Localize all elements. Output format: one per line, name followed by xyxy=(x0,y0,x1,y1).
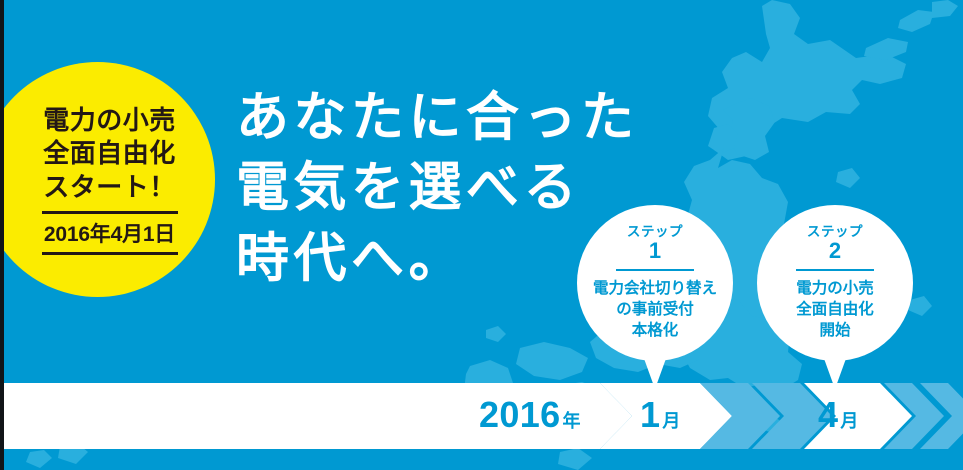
headline: あなたに合った 電気を選べる 時代へ。 xyxy=(236,83,639,294)
badge-line-2: 全面自由化 xyxy=(43,137,176,170)
step-1-number: 1 xyxy=(649,239,661,262)
timeline-month-1-unit: 月 xyxy=(662,407,680,433)
step-1-desc-line-3: 本格化 xyxy=(632,321,679,342)
headline-line-1: あなたに合った xyxy=(236,83,639,153)
timeline-month-1-value: 1 xyxy=(640,394,660,436)
step-2-desc-line-3: 開始 xyxy=(819,321,850,342)
step-bubble-2: ステップ 2 電力の小売 全面自由化 開始 xyxy=(757,205,913,361)
timeline-year-unit: 年 xyxy=(563,407,581,433)
step-bubble-1: ステップ 1 電力会社切り替え の事前受付 本格化 xyxy=(577,205,733,361)
step-2-desc-line-2: 全面自由化 xyxy=(796,300,874,321)
start-badge: 電力の小売 全面自由化 スタート！ 2016年4月1日 xyxy=(0,62,215,297)
badge-divider-bottom xyxy=(42,252,178,255)
badge-line-3: スタート！ xyxy=(43,171,176,204)
step-2-bubble-tail xyxy=(822,353,848,389)
timeline-month-4-value: 4 xyxy=(818,394,838,436)
step-2-desc-line-1: 電力の小売 xyxy=(796,279,874,300)
left-edge-stripe xyxy=(0,0,4,470)
headline-line-2: 電気を選べる xyxy=(236,153,639,223)
step-2-number: 2 xyxy=(829,239,841,262)
step-1-desc-line-2: の事前受付 xyxy=(616,300,694,321)
step-2-divider xyxy=(796,269,874,271)
timeline-month-1: 1 月 xyxy=(640,394,680,436)
timeline-month-4-unit: 月 xyxy=(840,407,858,433)
badge-divider-top xyxy=(42,211,178,214)
step-1-bubble-tail xyxy=(642,353,668,389)
timeline-month-4: 4 月 xyxy=(818,394,858,436)
start-badge-content: 電力の小売 全面自由化 スタート！ 2016年4月1日 xyxy=(0,104,215,255)
timeline-year-value: 2016 xyxy=(479,394,561,436)
badge-date: 2016年4月1日 xyxy=(44,218,175,248)
step-1-desc-line-1: 電力会社切り替え xyxy=(593,279,717,300)
step-1-divider xyxy=(616,269,694,271)
badge-line-1: 電力の小売 xyxy=(43,104,176,137)
timeline-year: 2016 年 xyxy=(479,394,581,436)
promo-banner: 電力の小売 全面自由化 スタート！ 2016年4月1日 あなたに合った 電気を選… xyxy=(0,0,963,470)
